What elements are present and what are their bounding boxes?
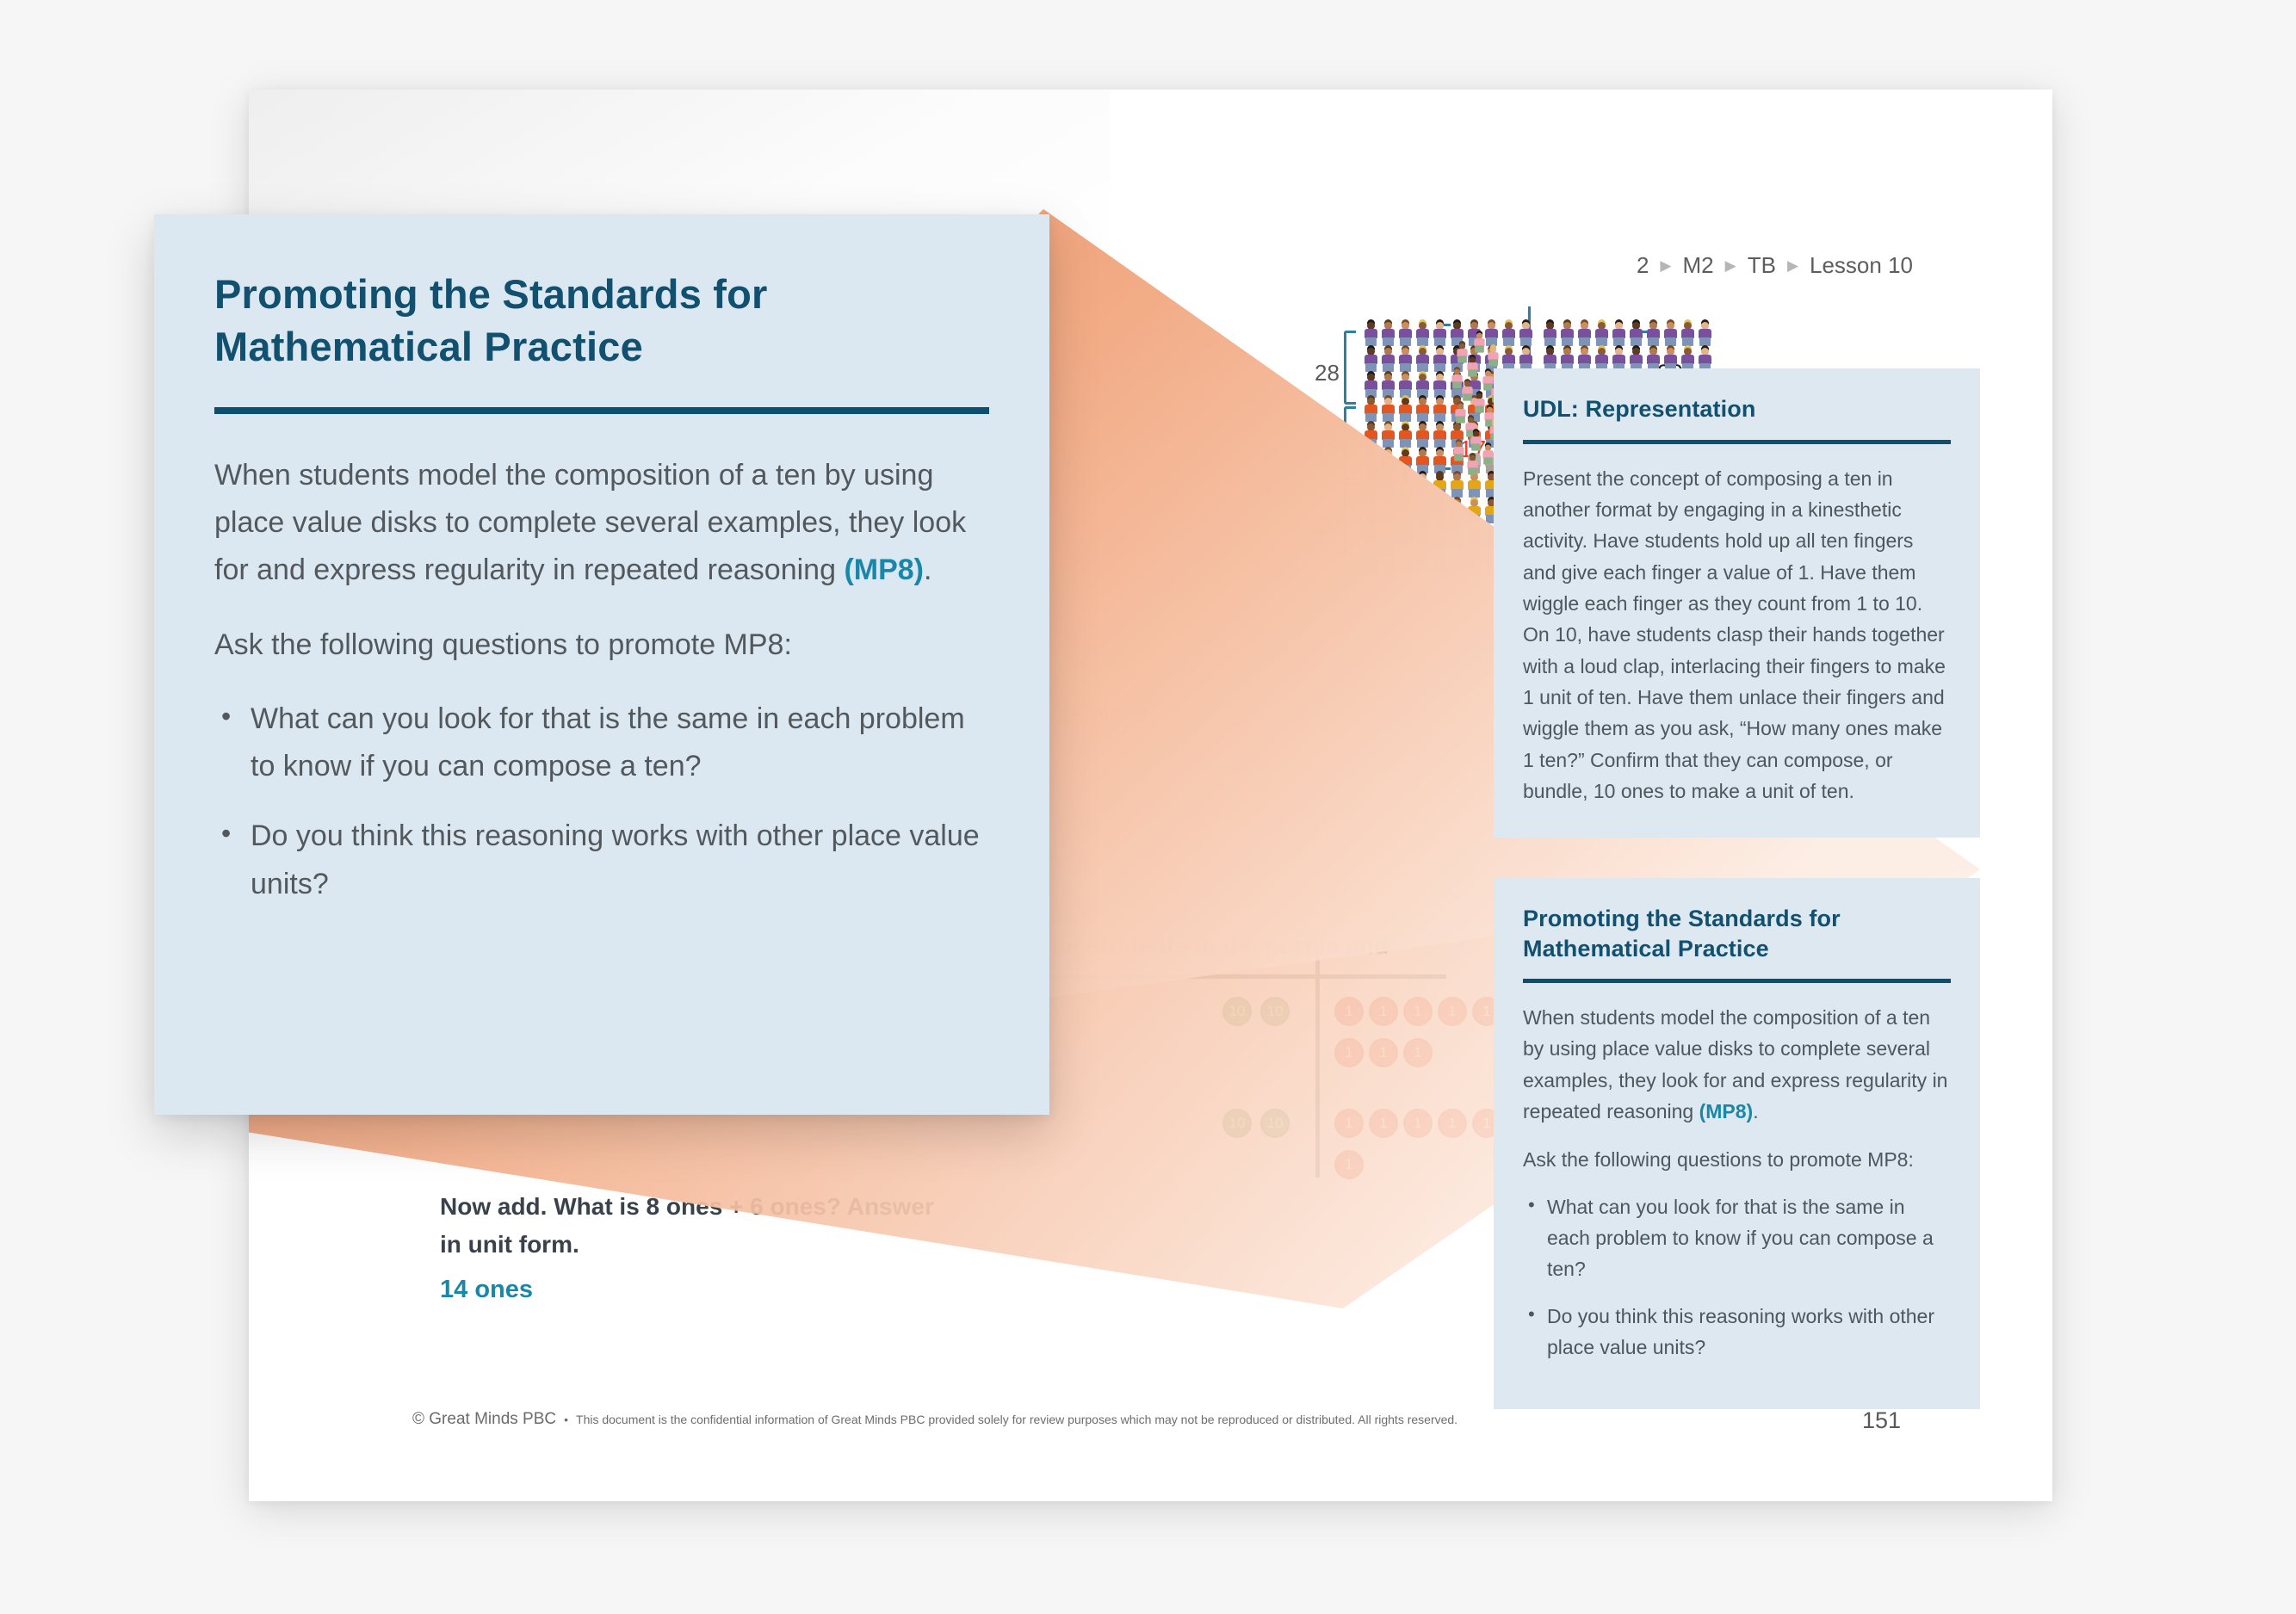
mp8-reference: (MP8)	[1699, 1100, 1754, 1122]
student-figure-icon	[1576, 322, 1593, 347]
list-item: Do you think this reasoning works with o…	[214, 813, 989, 908]
empty-seat-icon	[1466, 549, 1482, 574]
student-figure-icon	[1473, 333, 1487, 354]
seating-bracket-left-1	[1344, 331, 1356, 405]
student-figure-icon	[1363, 473, 1379, 498]
seating-row	[1542, 322, 1713, 347]
student-figure-icon	[1397, 374, 1414, 399]
breadcrumb: 2 ▶ M2 ▶ TB ▶ Lesson 10	[1637, 252, 1913, 279]
sidebar-box-udl-representation: UDL: Representation Present the concept …	[1494, 368, 1980, 838]
one-disk: 1	[1438, 1109, 1467, 1138]
list-item: Do you think this reasoning works with o…	[1523, 1301, 1951, 1364]
place-value-vertical-rule	[1315, 947, 1320, 1178]
footer-separator: •	[564, 1413, 568, 1426]
student-figure-icon	[1594, 322, 1610, 347]
student-figure-icon	[1518, 322, 1534, 347]
overlay-paragraph-tail: .	[924, 553, 931, 586]
student-figure-icon	[1380, 525, 1396, 550]
one-disk: 1	[1369, 1109, 1398, 1138]
student-figure-icon	[1432, 499, 1448, 524]
sidebar-box-divider	[1523, 979, 1951, 983]
student-figure-icon	[1380, 499, 1396, 524]
student-figure-icon	[1432, 525, 1448, 550]
student-figure-icon	[1397, 348, 1414, 373]
student-figure-icon	[1363, 374, 1379, 399]
student-figure-icon	[1432, 398, 1448, 423]
seating-bracket-left-2	[1344, 406, 1356, 480]
one-disk: 1	[1403, 997, 1433, 1026]
breadcrumb-item-lesson[interactable]: Lesson 10	[1810, 252, 1913, 279]
student-figure-icon	[1697, 322, 1713, 347]
sidebar-box-divider	[1523, 440, 1951, 444]
student-figure-icon	[1363, 525, 1379, 550]
student-figure-icon	[1414, 499, 1431, 524]
student-figure-icon	[1414, 449, 1431, 474]
student-figure-icon	[1432, 374, 1448, 399]
seating-label-left-3: 26	[1315, 511, 1340, 538]
student-figure-icon	[1542, 322, 1558, 347]
student-figure-icon	[1380, 449, 1396, 474]
overlay-paragraph-2: Ask the following questions to promote M…	[214, 621, 989, 669]
empty-seat-icon	[1380, 549, 1396, 574]
student-figure-icon	[1628, 322, 1644, 347]
student-figure-icon	[1414, 374, 1431, 399]
sidebar-box-title: UDL: Representation	[1523, 394, 1951, 424]
list-item: What can you look for that is the same i…	[214, 696, 989, 791]
student-figure-icon	[1380, 348, 1396, 373]
student-figure-icon	[1432, 348, 1448, 373]
sidebar-box-title-line-2: Mathematical Practice	[1523, 936, 1769, 962]
student-figure-icon	[1432, 424, 1448, 448]
student-figure-icon	[1397, 449, 1414, 474]
student-figure-icon	[1449, 525, 1465, 550]
student-figure-icon	[1363, 499, 1379, 524]
mp8-reference: (MP8)	[844, 553, 924, 586]
sidebar-box-paragraph-2: Ask the following questions to promote M…	[1523, 1144, 1951, 1175]
empty-seat-icon	[1432, 549, 1448, 574]
student-figure-icon	[1397, 473, 1414, 498]
screenshot-canvas: EUREKA MATH2 Tennessee Edition 2 ▶ M2 ▶ …	[0, 0, 2296, 1614]
empty-seat-icon	[1363, 549, 1379, 574]
sidebar-box-bullet-list: What can you look for that is the same i…	[1523, 1191, 1951, 1364]
empty-seat-icon	[1414, 549, 1431, 574]
ten-disk: 10	[1222, 997, 1252, 1026]
overlay-title-line-2: Mathematical Practice	[214, 324, 643, 369]
breadcrumb-item-topic[interactable]: TB	[1748, 252, 1776, 279]
student-figure-icon	[1397, 398, 1414, 423]
one-disk: 1	[1403, 1038, 1433, 1067]
triangle-right-icon: ▶	[1787, 257, 1798, 275]
ten-disk: 10	[1260, 1109, 1290, 1138]
sidebar-box-paragraph: Present the concept of composing a ten i…	[1523, 463, 1951, 807]
one-disk: 1	[1334, 1038, 1364, 1067]
one-disk: 1	[1369, 997, 1398, 1026]
student-figure-icon	[1363, 424, 1379, 448]
one-disk: 1	[1369, 1038, 1398, 1067]
student-figure-icon	[1363, 449, 1379, 474]
overlay-bullet-list: What can you look for that is the same i…	[214, 696, 989, 909]
student-figure-icon	[1414, 398, 1431, 423]
student-figure-icon	[1397, 322, 1414, 347]
empty-seat-icon	[1397, 549, 1414, 574]
empty-seat-icon	[1449, 549, 1465, 574]
student-figure-icon	[1466, 357, 1480, 378]
one-disk: 1	[1334, 1150, 1364, 1179]
sidebar-box-title-line-1: Promoting the Standards for	[1523, 906, 1841, 931]
student-figure-icon	[1397, 424, 1414, 448]
student-figure-icon	[1380, 374, 1396, 399]
footer-notice: This document is the confidential inform…	[576, 1413, 1457, 1426]
seating-label-left-2: 26	[1315, 436, 1340, 462]
student-figure-icon	[1414, 525, 1431, 550]
overlay-title-line-1: Promoting the Standards for	[214, 271, 768, 317]
student-figure-icon	[1449, 499, 1465, 524]
lesson-prompt-line-1: Now add. What is 8 ones + 6 ones? Answer	[440, 1190, 934, 1225]
student-figure-icon	[1380, 473, 1396, 498]
student-figure-icon	[1466, 499, 1482, 524]
student-figure-icon	[1432, 473, 1448, 498]
empty-seat-icon	[1466, 525, 1482, 550]
sidebar-box-promoting-standards: Promoting the Standards for Mathematical…	[1494, 878, 1980, 1409]
page-number: 151	[1862, 1407, 1901, 1434]
one-disk: 1	[1334, 1109, 1364, 1138]
footer-copyright: © Great Minds PBC	[412, 1410, 556, 1429]
one-disk: 1	[1334, 997, 1364, 1026]
lesson-prompt-line-2: in unit form.	[440, 1228, 579, 1263]
seating-bracket-left-3	[1344, 482, 1356, 556]
student-figure-icon	[1559, 322, 1575, 347]
seating-label-left-1: 28	[1315, 360, 1340, 386]
student-figure-icon	[1466, 473, 1482, 498]
student-figure-icon	[1662, 322, 1679, 347]
triangle-right-icon: ▶	[1660, 257, 1671, 275]
student-figure-icon	[1414, 348, 1431, 373]
list-item: What can you look for that is the same i…	[1523, 1191, 1951, 1285]
lesson-answer: 14 ones	[440, 1276, 533, 1304]
ten-disk: 10	[1222, 1109, 1252, 1138]
student-figure-icon	[1680, 322, 1696, 347]
lesson-text-line-1: ns place.	[1058, 696, 1154, 732]
footer: © Great Minds PBC • This document is the…	[412, 1410, 1457, 1429]
ten-disk: 10	[1260, 997, 1290, 1026]
student-figure-icon	[1432, 322, 1448, 347]
breadcrumb-item-module[interactable]: M2	[1683, 252, 1714, 279]
overlay-callout-card[interactable]: Promoting the Standards for Mathematical…	[154, 214, 1049, 1115]
overlay-title: Promoting the Standards for Mathematical…	[214, 268, 989, 373]
student-figure-icon	[1363, 322, 1379, 347]
student-figure-icon	[1482, 445, 1495, 466]
student-figure-icon	[1363, 348, 1379, 373]
sidebar-box-title: Promoting the Standards for Mathematical…	[1523, 904, 1951, 963]
student-figure-icon	[1397, 525, 1414, 550]
triangle-right-icon: ▶	[1725, 257, 1736, 275]
student-figure-icon	[1363, 398, 1379, 423]
student-figure-icon	[1397, 499, 1414, 524]
breadcrumb-item-grade[interactable]: 2	[1637, 252, 1649, 279]
student-figure-icon	[1414, 473, 1431, 498]
student-figure-icon	[1645, 322, 1662, 347]
student-figure-icon	[1449, 473, 1465, 498]
student-figure-icon	[1452, 442, 1466, 462]
student-figure-icon	[1380, 398, 1396, 423]
sidebar-paragraph-tail: .	[1753, 1100, 1758, 1122]
student-figure-icon	[1611, 322, 1627, 347]
student-figure-icon	[1414, 322, 1431, 347]
one-disk: 1	[1438, 997, 1467, 1026]
student-figure-icon	[1414, 424, 1431, 448]
student-figure-icon	[1380, 424, 1396, 448]
student-figure-icon	[1466, 455, 1480, 476]
student-figure-icon	[1487, 347, 1501, 368]
overlay-divider	[214, 407, 989, 414]
student-figure-icon	[1380, 322, 1396, 347]
overlay-paragraph-1: When students model the composition of a…	[214, 452, 989, 594]
sidebar-box-paragraph-1: When students model the composition of a…	[1523, 1002, 1951, 1127]
one-disk: 1	[1403, 1109, 1433, 1138]
student-figure-icon	[1432, 449, 1448, 474]
